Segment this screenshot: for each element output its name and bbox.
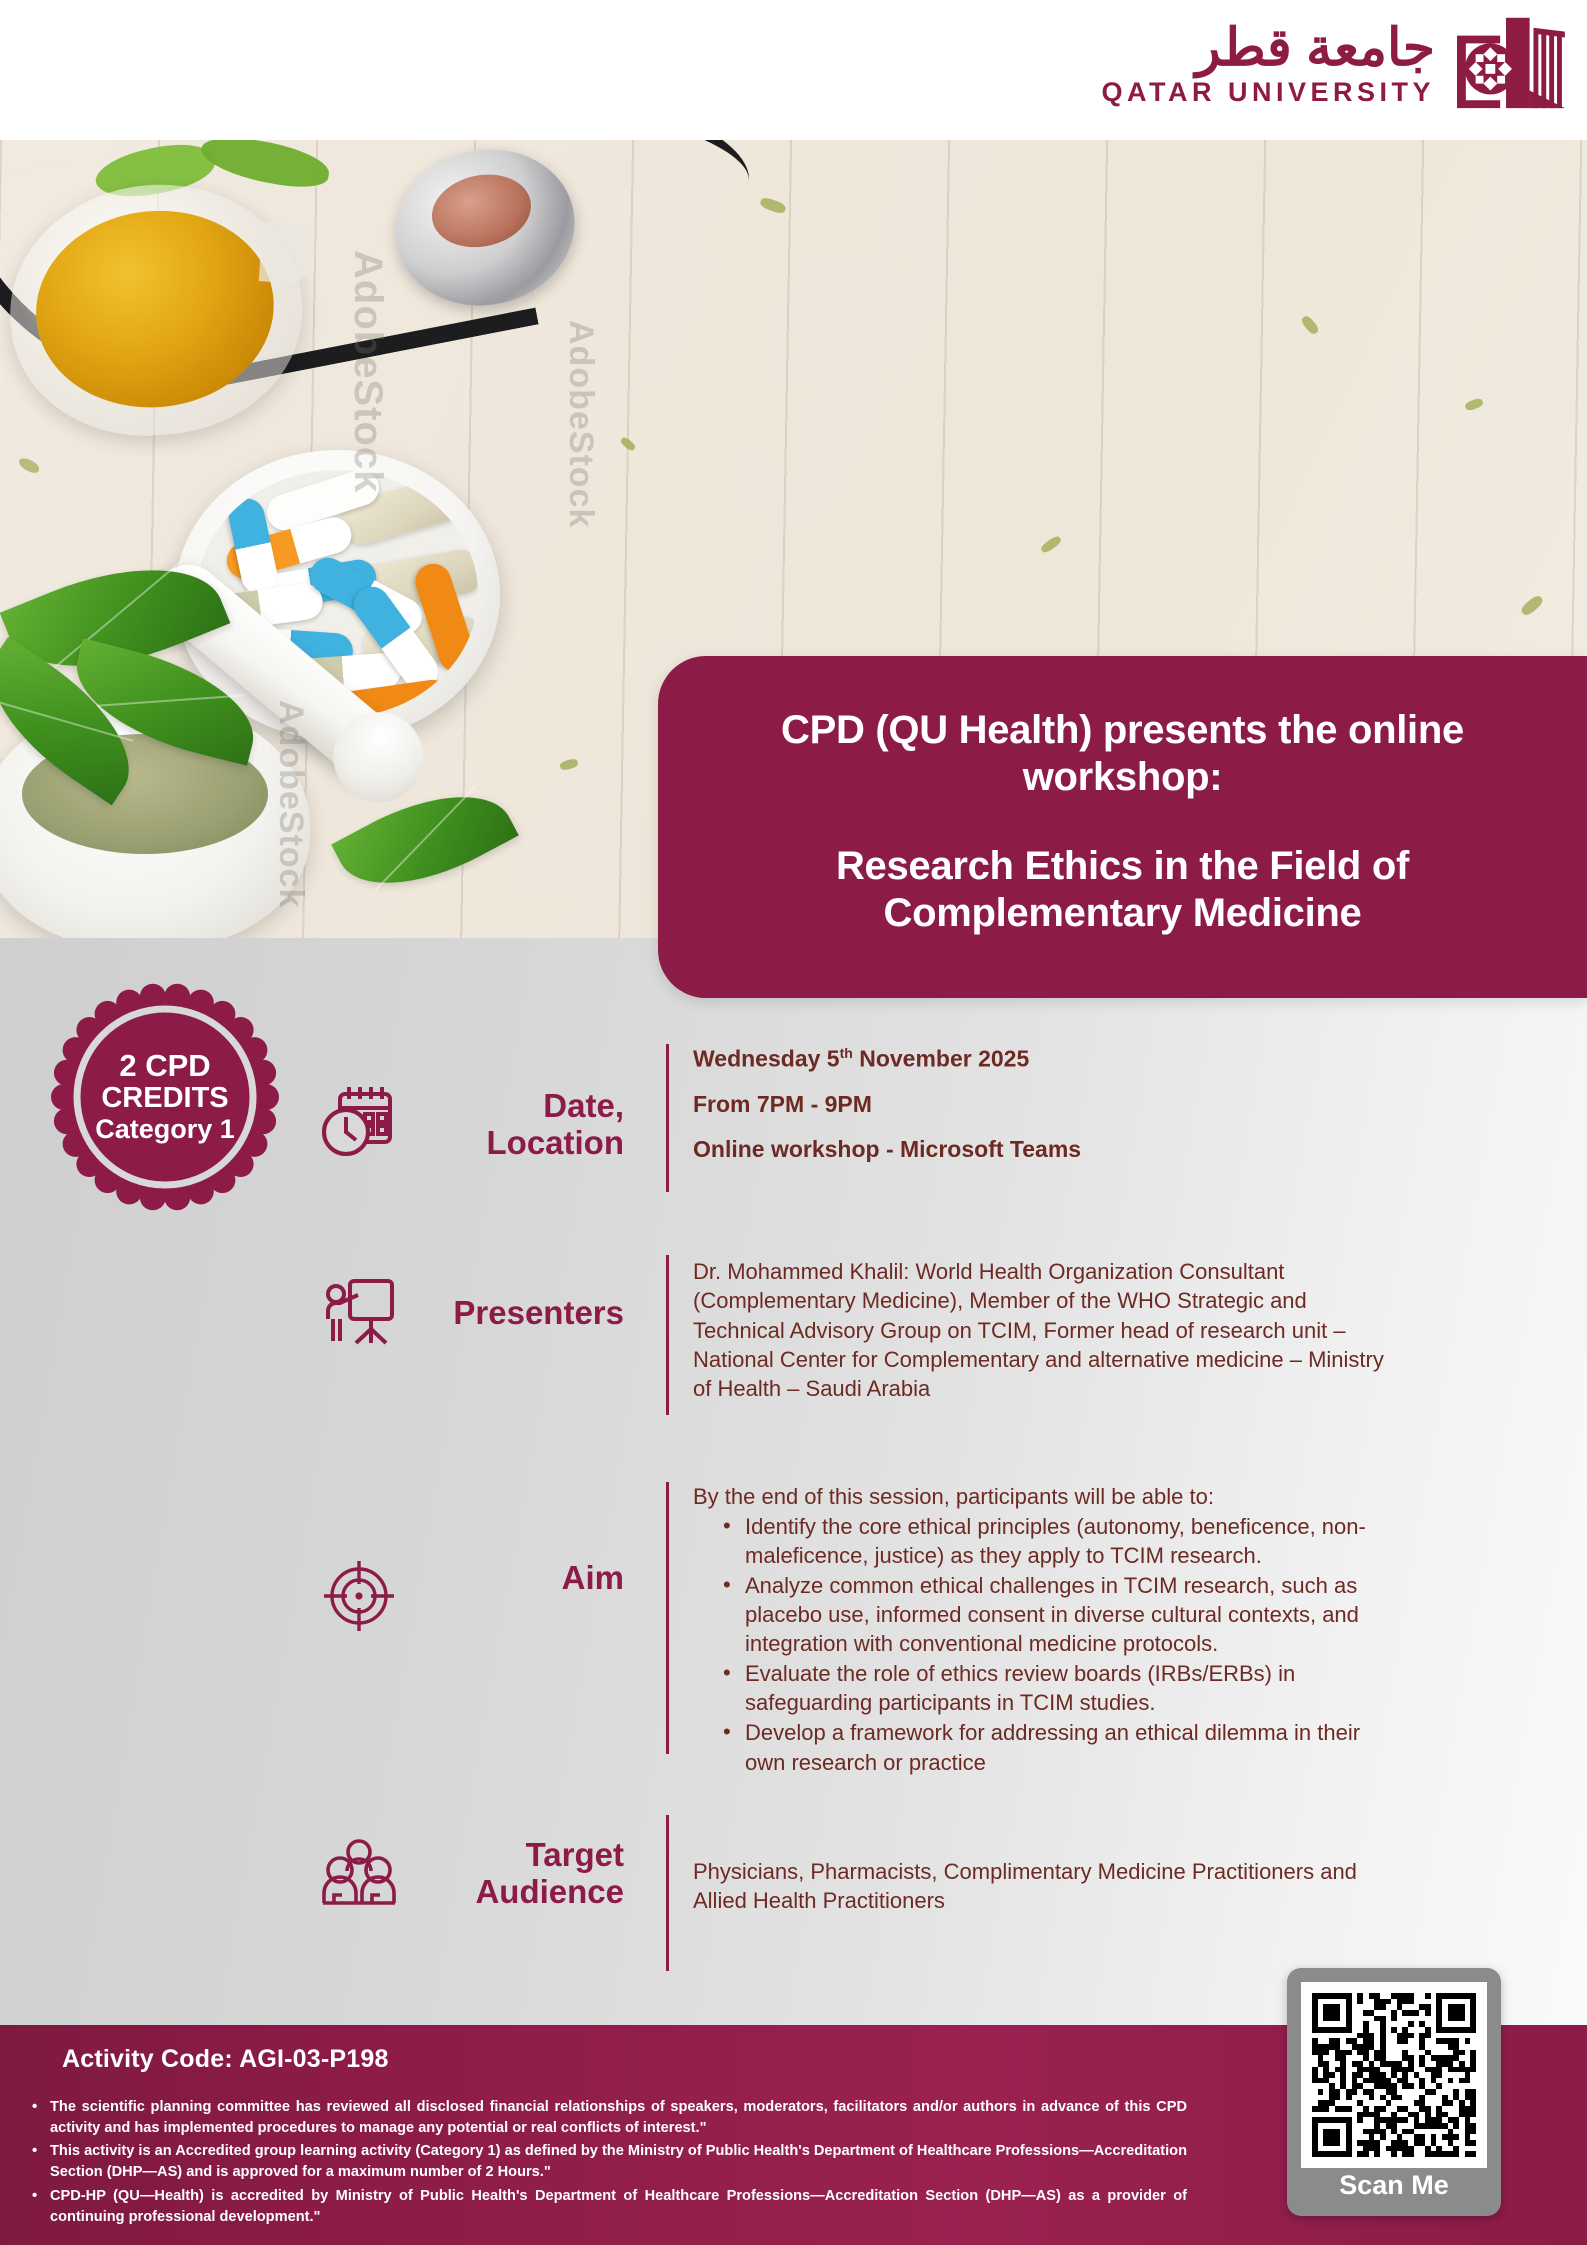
qatar-university-logo: جامعة قطر QATAR UNIVERSITY	[1101, 14, 1567, 114]
section-presenters: Presenters Dr. Mohammed Khalil: World He…	[300, 1255, 1480, 1425]
disclaimer-item: This activity is an Accredited group lea…	[20, 2141, 1187, 2182]
date-line: Wednesday 5th November 2025	[693, 1046, 1480, 1071]
disclaimer-item: The scientific planning committee has re…	[20, 2097, 1187, 2138]
disclaimer-item: CPD-HP (QU—Health) is accredited by Mini…	[20, 2186, 1187, 2227]
aim-bullet: Develop a framework for addressing an et…	[719, 1718, 1393, 1776]
presenters-content: Dr. Mohammed Khalil: World Health Organi…	[693, 1255, 1393, 1403]
date-line-post: November 2025	[853, 1046, 1029, 1072]
honey-liquid	[26, 199, 283, 419]
presenters-text: Dr. Mohammed Khalil: World Health Organi…	[693, 1257, 1393, 1403]
badge-category: Category 1	[95, 1115, 235, 1145]
presenter-board-icon	[300, 1255, 418, 1349]
section-date-location: Date, Location Wednesday 5th November 20…	[300, 1040, 1480, 1230]
date-location-content: Wednesday 5th November 2025 From 7PM - 9…	[693, 1040, 1480, 1161]
aim-bullet: Analyze common ethical challenges in TCI…	[719, 1571, 1393, 1658]
aim-label: Aim	[418, 1482, 638, 1597]
badge-credits-number: 2 CPD	[119, 1049, 210, 1083]
section-aim: Aim By the end of this session, particip…	[300, 1482, 1480, 1782]
qr-scan-card[interactable]: Scan Me	[1287, 1968, 1501, 2216]
time-line: From 7PM - 9PM	[693, 1093, 1480, 1116]
logo-arabic-text: جامعة قطر	[1101, 22, 1435, 74]
section-target-audience: Target Audience Physicians, Pharmacists,…	[300, 1815, 1480, 1985]
people-group-icon	[300, 1815, 418, 1915]
qatar-university-emblem-icon	[1449, 14, 1567, 114]
banner-line-1: CPD (QU Health) presents the online work…	[692, 707, 1553, 801]
aim-divider-bar	[666, 1482, 669, 1754]
logo-english-text: QATAR UNIVERSITY	[1101, 79, 1435, 106]
banner-line-2: Research Ethics in the Field of Compleme…	[692, 843, 1553, 937]
aim-bullet: Evaluate the role of ethics review board…	[719, 1659, 1393, 1717]
qr-code-icon[interactable]	[1301, 1982, 1487, 2168]
badge-text-block: 2 CPD CREDITS Category 1	[48, 980, 282, 1214]
target-audience-content: Physicians, Pharmacists, Complimentary M…	[693, 1815, 1393, 1916]
qr-code-modules	[1312, 1993, 1476, 2157]
title-banner: CPD (QU Health) presents the online work…	[658, 656, 1587, 998]
aim-bullet: Identify the core ethical principles (au…	[719, 1512, 1393, 1570]
date-line-pre: Wednesday 5	[693, 1046, 840, 1072]
calendar-clock-icon	[300, 1040, 418, 1160]
date-divider-bar	[666, 1044, 669, 1192]
activity-code: Activity Code: AGI-03-P198	[62, 2045, 389, 2074]
presenters-divider-bar	[666, 1255, 669, 1415]
target-crosshair-icon	[300, 1482, 418, 1636]
disclaimer-list: The scientific planning committee has re…	[20, 2097, 1187, 2230]
target-audience-label: Target Audience	[418, 1815, 638, 1911]
badge-credits-word: CREDITS	[101, 1083, 228, 1115]
cpd-credits-badge: 2 CPD CREDITS Category 1	[48, 980, 282, 1214]
aim-content: By the end of this session, participants…	[693, 1482, 1393, 1777]
presenters-label: Presenters	[418, 1255, 638, 1332]
logo-text-block: جامعة قطر QATAR UNIVERSITY	[1101, 22, 1435, 106]
date-location-label: Date, Location	[418, 1040, 638, 1162]
target-audience-text: Physicians, Pharmacists, Complimentary M…	[693, 1857, 1393, 1916]
date-ordinal-suffix: th	[840, 1045, 853, 1061]
location-line: Online workshop - Microsoft Teams	[693, 1138, 1480, 1161]
qr-scan-label: Scan Me	[1287, 2170, 1501, 2201]
audience-divider-bar	[666, 1815, 669, 1971]
aim-bullet-list: Identify the core ethical principles (au…	[719, 1512, 1393, 1776]
aim-intro: By the end of this session, participants…	[693, 1482, 1393, 1511]
page-header: جامعة قطر QATAR UNIVERSITY	[0, 0, 1587, 140]
